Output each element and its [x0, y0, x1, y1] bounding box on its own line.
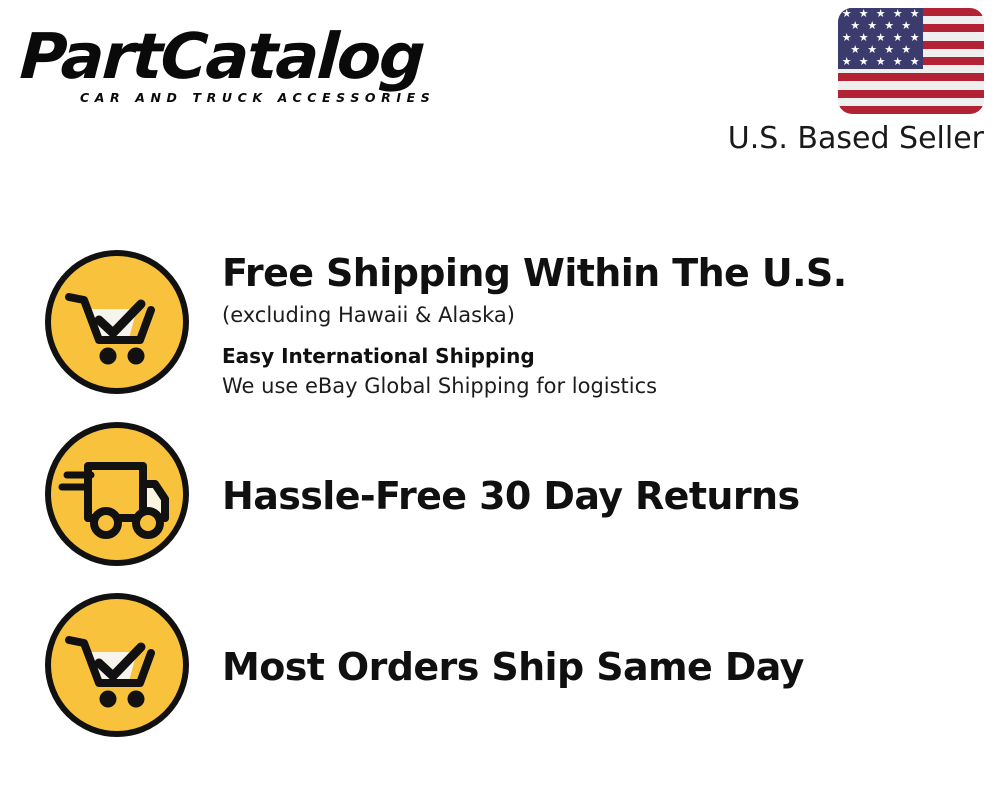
cart-check-icon: [43, 248, 191, 396]
seller-badge-label: U.S. Based Seller: [704, 121, 984, 156]
feature-subtitle-detail: We use eBay Global Shipping for logistic…: [222, 371, 847, 401]
flag-star-row: ★★★★★: [838, 57, 923, 68]
feature-text: Free Shipping Within The U.S. (excluding…: [222, 248, 847, 401]
flag-canton: ★★★★★ ★★★★ ★★★★★ ★★★★ ★★★★★: [838, 8, 923, 69]
feature-title: Free Shipping Within The U.S.: [222, 250, 847, 296]
feature-text: Most Orders Ship Same Day: [222, 591, 804, 741]
brand-wordmark: PartCatalog: [18, 22, 501, 92]
seller-badge: ★★★★★ ★★★★ ★★★★★ ★★★★ ★★★★★ U.S. Based S…: [704, 8, 984, 156]
feature-text: Hassle-Free 30 Day Returns: [222, 420, 799, 570]
feature-row: Free Shipping Within The U.S. (excluding…: [0, 248, 1000, 401]
feature-row: Hassle-Free 30 Day Returns: [0, 420, 1000, 570]
delivery-truck-icon: [43, 420, 191, 568]
cart-check-icon: [43, 591, 191, 739]
brand-logo[interactable]: PartCatalog CAR AND TRUCK ACCESSORIES: [22, 22, 492, 118]
feature-subtitle-strong: Easy International Shipping: [222, 342, 847, 370]
feature-subtitle: (excluding Hawaii & Alaska): [222, 300, 847, 330]
feature-row: Most Orders Ship Same Day: [0, 591, 1000, 741]
flag-star-row: ★★★★: [838, 21, 923, 32]
us-flag-icon: ★★★★★ ★★★★ ★★★★★ ★★★★ ★★★★★: [838, 8, 984, 114]
feature-title: Most Orders Ship Same Day: [222, 644, 804, 690]
feature-title: Hassle-Free 30 Day Returns: [222, 473, 799, 519]
flag-star-row: ★★★★: [838, 45, 923, 56]
flag-star-row: ★★★★★: [838, 33, 923, 44]
flag-star-row: ★★★★★: [838, 9, 923, 20]
brand-tagline: CAR AND TRUCK ACCESSORIES: [80, 90, 435, 105]
page-header: PartCatalog CAR AND TRUCK ACCESSORIES: [0, 0, 1000, 170]
